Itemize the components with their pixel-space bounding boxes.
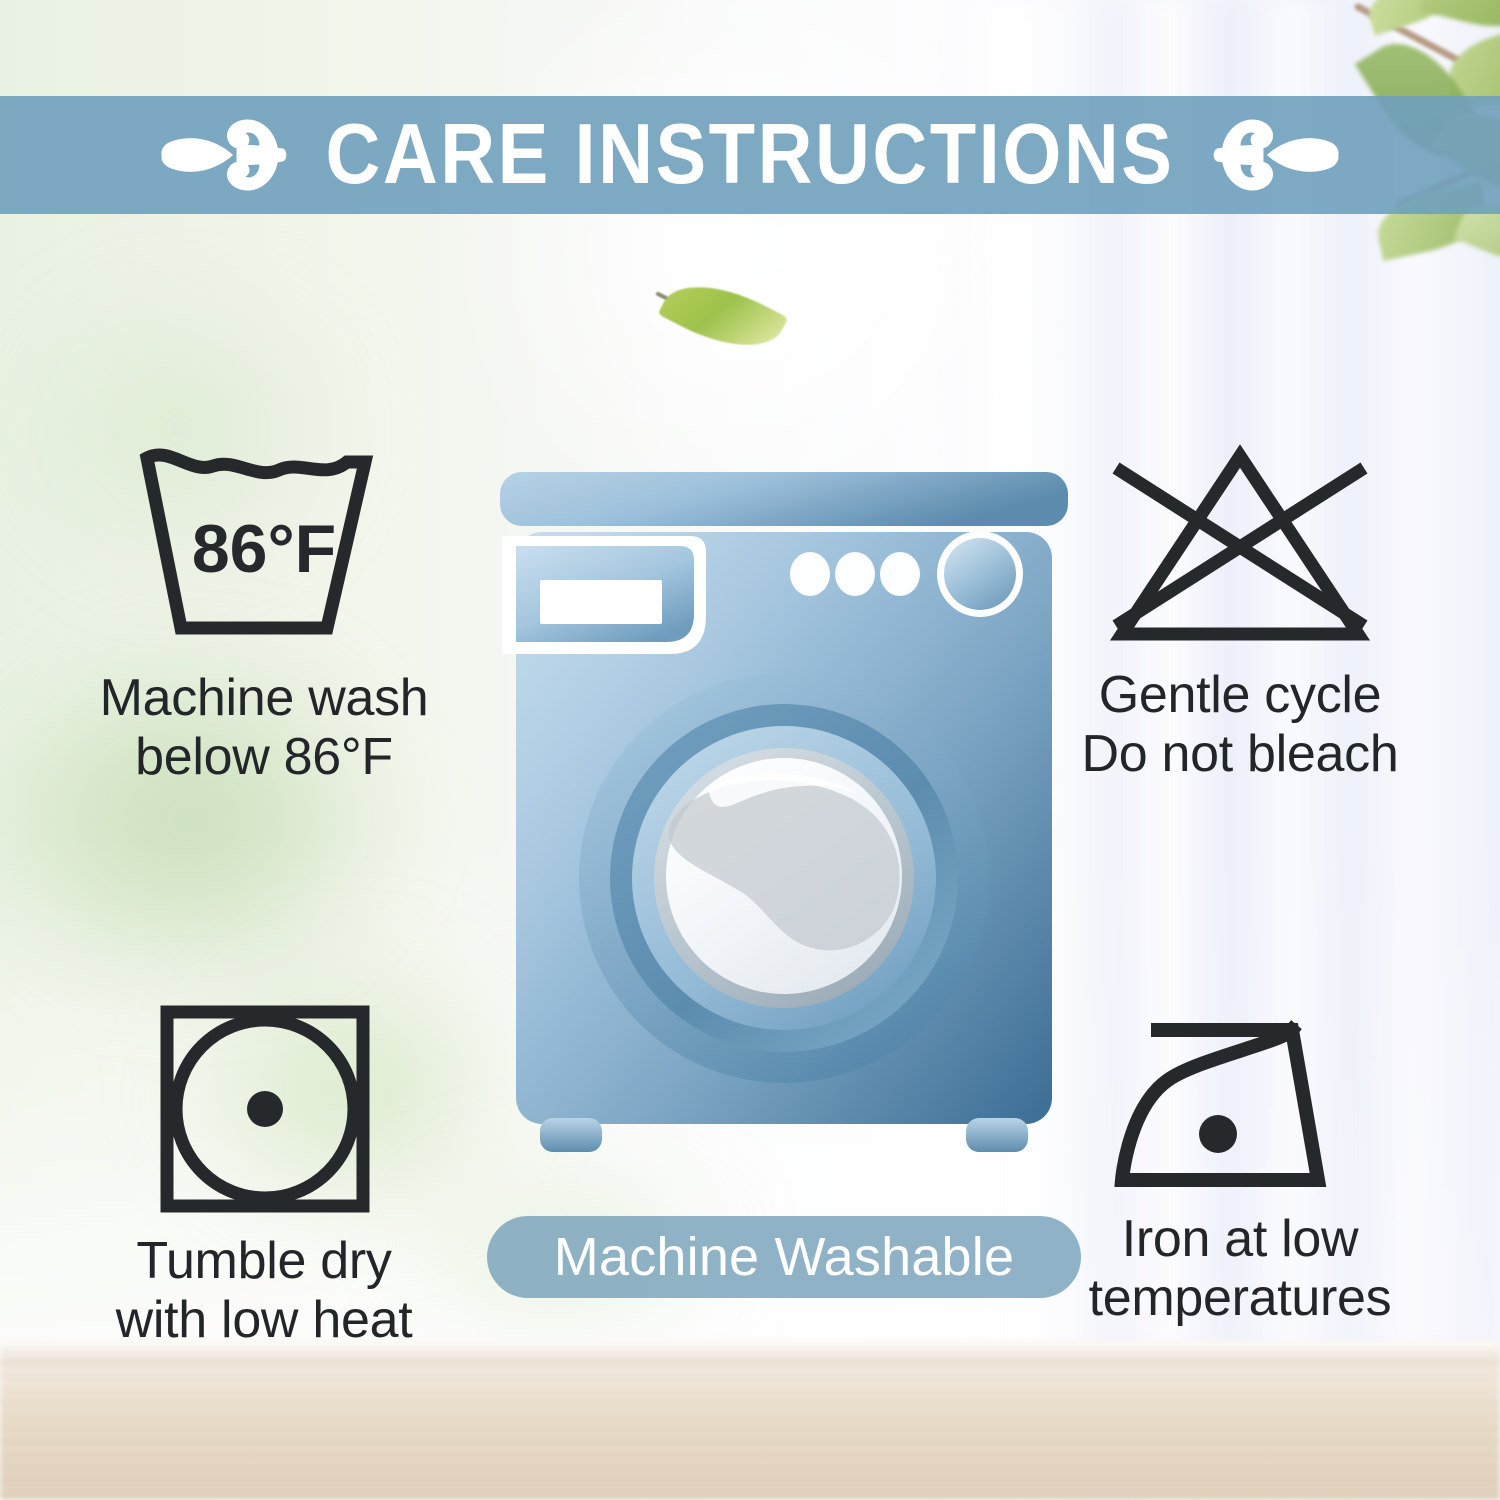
do-not-bleach-triangle-icon (1100, 440, 1380, 652)
tumble-dry-low-icon (152, 1000, 377, 1218)
page-title: CARE INSTRUCTIONS (326, 112, 1175, 197)
washing-machine-illustration (494, 466, 1074, 1196)
washer-drawer-slot (540, 580, 662, 624)
care-item-machine-wash-label: Machine wash below 86°F (100, 669, 429, 788)
care-item-tumble-dry-label: Tumble dry with low heat (116, 1232, 413, 1351)
machine-washable-badge: Machine Washable (487, 1216, 1081, 1298)
wood-table-edge (0, 1354, 1500, 1368)
washer-indicator-light-2 (835, 552, 875, 596)
wash-temperature-value: 86°F (192, 511, 336, 587)
care-item-do-not-bleach: Gentle cycle Do not bleach (1000, 440, 1480, 785)
care-item-iron-label: Iron at low temperatures (1089, 1210, 1392, 1329)
care-instructions-infographic: CARE INSTRUCTIONS 86°F Machine wash belo… (0, 0, 1500, 1500)
washer-foot-left (540, 1118, 602, 1152)
care-item-do-not-bleach-label: Gentle cycle Do not bleach (1082, 666, 1399, 785)
washer-top-panel (500, 472, 1068, 526)
care-item-machine-wash: 86°F Machine wash below 86°F (24, 440, 504, 788)
iron-low-temperature-icon (1106, 1000, 1374, 1196)
header-banner: CARE INSTRUCTIONS (0, 96, 1500, 214)
care-item-tumble-dry: Tumble dry with low heat (24, 1000, 504, 1351)
washer-indicator-light-3 (880, 552, 920, 596)
fleur-de-lis-ornament-left (138, 103, 290, 207)
machine-washable-badge-label: Machine Washable (554, 1230, 1014, 1284)
wash-tub-icon: 86°F (129, 440, 399, 655)
washer-indicator-light-1 (790, 552, 830, 596)
fleur-de-lis-ornament-right (1210, 103, 1362, 207)
